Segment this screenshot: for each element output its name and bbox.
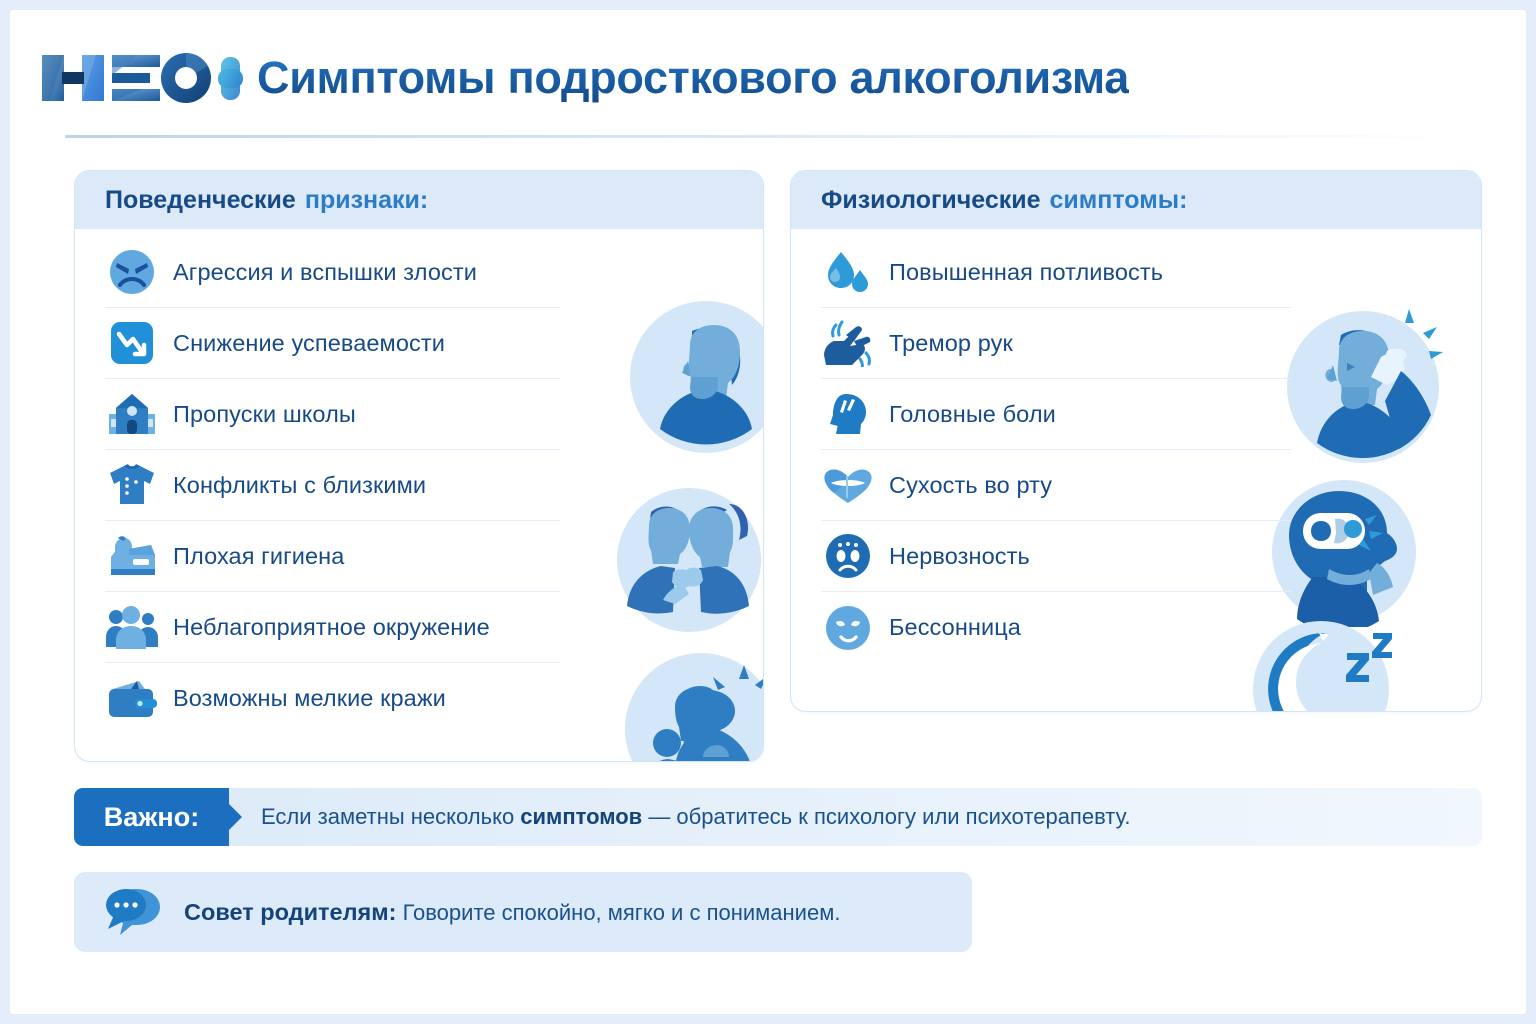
behavioral-item-label: Агрессия и вспышки злости: [173, 259, 477, 286]
advice-banner-text: Совет родителям: Говорите спокойно, мягк…: [184, 899, 840, 926]
worried-face-icon: [821, 529, 875, 583]
school-building-icon: [105, 387, 159, 441]
important-text-highlight: симптомов: [520, 804, 642, 829]
physiological-item-label: Нервозность: [889, 543, 1030, 570]
behavioral-item-label: Снижение успеваемости: [173, 330, 445, 357]
advice-body: Говорите спокойно, мягко и с пониманием.: [396, 900, 840, 925]
header: Симптомы подросткового алкоголизма: [38, 28, 1498, 128]
advice-banner: Совет родителям: Говорите спокойно, мягк…: [74, 872, 972, 952]
soap-bar-icon: [105, 529, 159, 583]
behavioral-item-grades[interactable]: Снижение успеваемости: [105, 308, 560, 379]
behavioral-item-label: Плохая гигиена: [173, 543, 344, 570]
behavioral-item-aggression[interactable]: Агрессия и вспышки злости: [105, 237, 560, 308]
physiological-item-label: Тремор рук: [889, 330, 1013, 357]
declining-chart-icon: [105, 316, 159, 370]
physiological-heading-light: симптомы:: [1050, 186, 1188, 215]
behavioral-item-theft[interactable]: Возможны мелкие кражи: [105, 663, 560, 734]
page-title: Симптомы подросткового алкоголизма: [257, 52, 1129, 104]
physiological-item-label: Повышенная потливость: [889, 259, 1163, 286]
speech-bubbles-icon: [100, 883, 166, 941]
behavioral-panel-body: Агрессия и вспышки злости Снижение успев…: [75, 229, 763, 761]
group-of-people-icon: [105, 600, 159, 654]
behavioral-item-label: Пропуски школы: [173, 401, 356, 428]
shaking-hand-icon: [821, 316, 875, 370]
neo-plus-logo-icon: [38, 47, 243, 109]
physiological-item-headache[interactable]: Головные боли: [821, 379, 1291, 450]
physiological-item-label: Бессонница: [889, 614, 1021, 641]
physiological-item-label: Головные боли: [889, 401, 1056, 428]
physiological-panel-body: Повышенная потливость Тр: [791, 229, 1481, 711]
sweat-drops-icon: [821, 245, 875, 299]
behavioral-heading-strong: Поведенческие: [105, 186, 296, 215]
physiological-items-list: Повышенная потливость Тр: [791, 229, 1481, 663]
angry-face-icon: [105, 245, 159, 299]
sleepless-face-icon: [821, 601, 875, 655]
physiological-panel-header: Физиологические симптомы:: [791, 171, 1481, 229]
physiological-heading-strong: Физиологические: [821, 186, 1041, 215]
behavioral-item-bad-company[interactable]: Неблагоприятное окружение: [105, 592, 560, 663]
physiological-item-insomnia[interactable]: Бессонница: [821, 592, 1291, 663]
physiological-item-dry-mouth[interactable]: Сухость во рту: [821, 450, 1291, 521]
physiological-item-label: Сухость во рту: [889, 472, 1052, 499]
behavioral-item-school-absence[interactable]: Пропуски школы: [105, 379, 560, 450]
header-divider: [65, 135, 1471, 138]
wallet-icon: [105, 672, 159, 726]
important-banner: Важно: Если заметны несколько симптомов …: [74, 788, 1482, 846]
tshirt-icon: [105, 458, 159, 512]
behavioral-item-conflicts[interactable]: Конфликты с близкими: [105, 450, 560, 521]
infographic-page: Симптомы подросткового алкоголизма Повед…: [0, 0, 1536, 1024]
dry-lips-icon: [821, 458, 875, 512]
physiological-symptoms-panel: Физиологические симптомы:: [790, 170, 1482, 712]
infographic-canvas: Симптомы подросткового алкоголизма Повед…: [10, 10, 1526, 1014]
important-text-after: — обратитесь к психологу или психотерапе…: [642, 804, 1130, 829]
head-pain-icon: [821, 387, 875, 441]
advice-label: Совет родителям:: [184, 899, 396, 925]
behavioral-panel-header: Поведенческие признаки:: [75, 171, 763, 229]
behavioral-item-label: Неблагоприятное окружение: [173, 614, 490, 641]
behavioral-heading-light: признаки:: [305, 186, 428, 215]
behavioral-item-label: Возможны мелкие кражи: [173, 685, 446, 712]
important-banner-text: Если заметны несколько симптомов — обрат…: [229, 804, 1131, 830]
behavioral-signs-panel: Поведенческие признаки:: [74, 170, 764, 762]
behavioral-items-list: Агрессия и вспышки злости Снижение успев…: [75, 229, 763, 734]
physiological-item-nervousness[interactable]: Нервозность: [821, 521, 1291, 592]
important-text-before: Если заметны несколько: [261, 804, 520, 829]
important-tag: Важно:: [74, 788, 229, 846]
behavioral-item-hygiene[interactable]: Плохая гигиена: [105, 521, 560, 592]
physiological-item-sweating[interactable]: Повышенная потливость: [821, 237, 1291, 308]
physiological-item-tremor[interactable]: Тремор рук: [821, 308, 1291, 379]
behavioral-item-label: Конфликты с близкими: [173, 472, 426, 499]
